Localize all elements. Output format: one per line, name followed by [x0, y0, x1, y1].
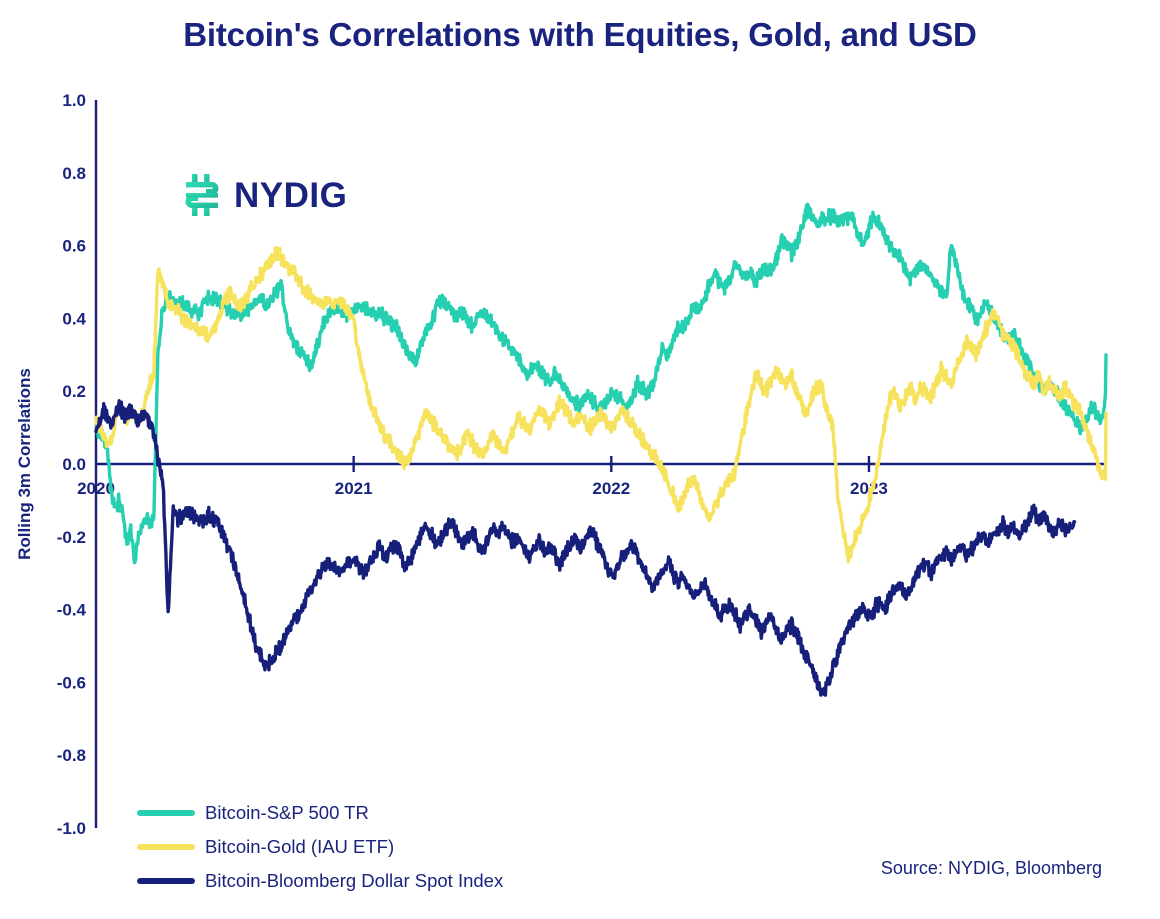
y-tick-label: 0.4: [62, 309, 86, 328]
y-tick-label: -0.6: [57, 673, 86, 692]
nydig-logo: NYDIG: [180, 173, 347, 217]
legend-item-dollar[interactable]: Bitcoin-Bloomberg Dollar Spot Index: [137, 870, 503, 892]
legend-label-gold: Bitcoin-Gold (IAU ETF): [205, 836, 394, 858]
x-axis-ticks: 2020202120222023: [77, 456, 888, 498]
y-tick-label: 0.0: [62, 455, 86, 474]
y-tick-label: 0.6: [62, 237, 86, 256]
nydig-wordmark: NYDIG: [234, 178, 347, 213]
nydig-bitcoin-glyph-icon: [180, 173, 224, 217]
correlation-line-chart: 1.00.80.60.40.20.0-0.2-0.4-0.6-0.8-1.0 2…: [0, 0, 1160, 919]
legend-label-dollar: Bitcoin-Bloomberg Dollar Spot Index: [205, 870, 503, 892]
legend-item-sp500[interactable]: Bitcoin-S&P 500 TR: [137, 802, 503, 824]
x-tick-label: 2022: [592, 479, 630, 498]
y-tick-label: -0.4: [57, 601, 87, 620]
y-tick-label: 0.8: [62, 164, 86, 183]
chart-figure: Bitcoin's Correlations with Equities, Go…: [0, 0, 1160, 919]
y-tick-label: -0.8: [57, 746, 86, 765]
legend-swatch-dollar: [137, 878, 195, 884]
y-tick-label: 1.0: [62, 91, 86, 110]
legend-label-sp500: Bitcoin-S&P 500 TR: [205, 802, 369, 824]
y-tick-label: -0.2: [57, 528, 86, 547]
series-line-dollar: [96, 401, 1075, 695]
legend-item-gold[interactable]: Bitcoin-Gold (IAU ETF): [137, 836, 503, 858]
y-axis-label: Rolling 3m Correlations: [15, 368, 34, 560]
series-lines: [96, 204, 1106, 695]
y-tick-label: 0.2: [62, 382, 86, 401]
legend-swatch-sp500: [137, 810, 195, 816]
chart-legend: Bitcoin-S&P 500 TR Bitcoin-Gold (IAU ETF…: [137, 802, 503, 892]
y-tick-label: -1.0: [57, 819, 86, 838]
x-tick-label: 2021: [335, 479, 373, 498]
source-attribution: Source: NYDIG, Bloomberg: [881, 858, 1102, 879]
legend-swatch-gold: [137, 844, 195, 850]
y-axis-ticks: 1.00.80.60.40.20.0-0.2-0.4-0.6-0.8-1.0: [57, 91, 87, 838]
